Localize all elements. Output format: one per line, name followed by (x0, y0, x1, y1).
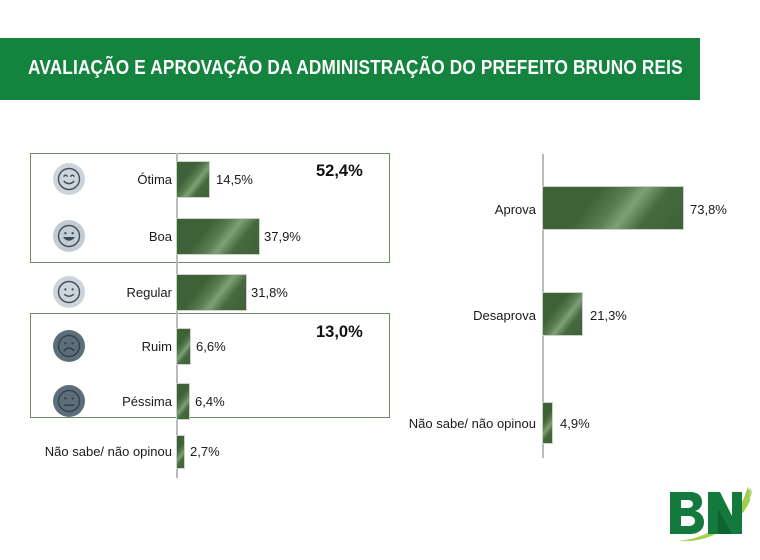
group-total-positivo: 52,4% (316, 162, 363, 181)
row-label-aprova: Aprova (432, 202, 536, 217)
group-total-negativo: 13,0% (316, 323, 363, 342)
bar-value-desaprova: 21,3% (590, 308, 627, 323)
bar-value-ruim: 6,6% (196, 339, 226, 354)
row-label-nao-sabe: Não sabe/ não opinou (30, 444, 172, 459)
chart-axis-line (176, 153, 178, 478)
bar-nao-sabe (542, 402, 553, 444)
bar-otima (176, 161, 210, 198)
bar-value-boa: 37,9% (264, 229, 301, 244)
bar-value-otima: 14,5% (216, 172, 253, 187)
bar-desaprova (542, 292, 583, 336)
header-banner: AVALIAÇÃO E APROVAÇÃO DA ADMINISTRAÇÃO D… (0, 38, 700, 100)
bar-value-nao-sabe: 2,7% (190, 444, 220, 459)
bar-boa (176, 218, 260, 255)
bn-logo (664, 478, 756, 552)
bar-value-nao-sabe: 4,9% (560, 416, 590, 431)
bar-pessima (176, 383, 190, 420)
bar-aprova (542, 186, 684, 230)
page-title: AVALIAÇÃO E APROVAÇÃO DA ADMINISTRAÇÃO D… (28, 56, 683, 80)
bar-nao-sabe (176, 435, 185, 469)
chart-aprovacao: Aprova 73,8% Desaprova 21,3% Não sabe/ n… (390, 150, 760, 460)
row-label-boa: Boa (72, 229, 172, 244)
row-label-regular: Regular (62, 285, 172, 300)
row-label-desaprova: Desaprova (422, 308, 536, 323)
bar-ruim (176, 328, 191, 365)
row-label-ruim: Ruim (72, 339, 172, 354)
chart-avaliacao: 52,4% 13,0% Ótima 14,5% Boa (0, 140, 420, 480)
bar-value-aprova: 73,8% (690, 202, 727, 217)
bar-value-regular: 31,8% (251, 285, 288, 300)
bar-regular (176, 274, 247, 311)
bar-value-pessima: 6,4% (195, 394, 225, 409)
row-label-nao-sabe: Não sabe/ não opinou (394, 416, 536, 431)
row-label-pessima: Péssima (62, 394, 172, 409)
row-label-otima: Ótima (72, 172, 172, 187)
